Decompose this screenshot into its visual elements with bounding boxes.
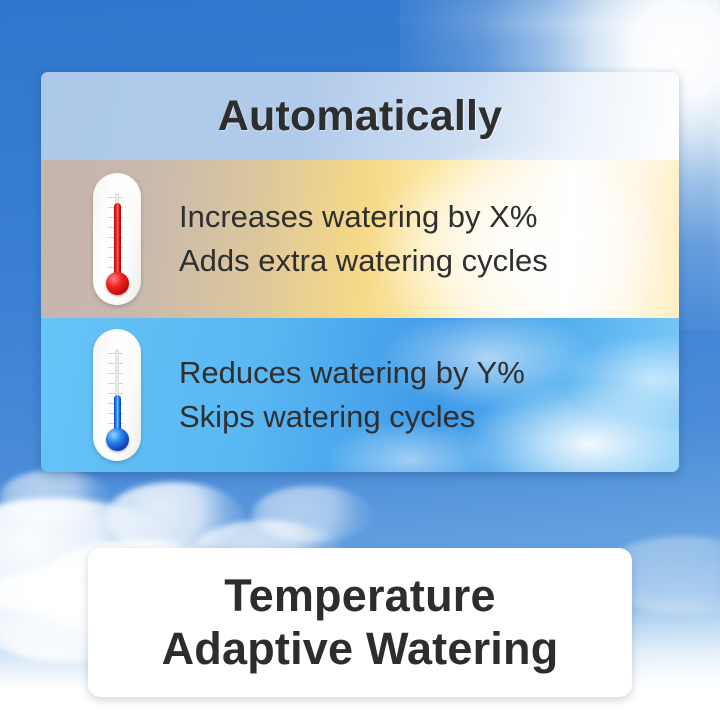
cold-line-1: Reduces watering by Y% <box>179 351 525 395</box>
thermometer-mercury-hot <box>114 203 121 279</box>
cloud-shape <box>252 486 372 542</box>
poster-canvas: Automatically Increases watering by X% A… <box>0 0 720 712</box>
page-title: Automatically <box>218 92 503 141</box>
hot-weather-text: Increases watering by X% Adds extra wate… <box>179 195 548 283</box>
cold-line-2: Skips watering cycles <box>179 395 525 439</box>
thermometer-bulb-cold <box>106 428 129 451</box>
thermometer-hot-icon <box>93 173 141 305</box>
hot-line-2: Adds extra watering cycles <box>179 239 548 283</box>
caption-card: Temperature Adaptive Watering <box>88 548 632 697</box>
feature-card: Automatically Increases watering by X% A… <box>41 72 679 472</box>
caption-line-2: Adaptive Watering <box>162 623 559 675</box>
thermometer-bulb-hot <box>106 272 129 295</box>
cloud-shape <box>0 470 110 522</box>
cold-weather-row: Reduces watering by Y% Skips watering cy… <box>41 318 679 472</box>
caption-line-1: Temperature <box>224 570 495 622</box>
feature-card-header: Automatically <box>41 72 679 160</box>
thermometer-cold-icon <box>93 329 141 461</box>
hot-weather-row: Increases watering by X% Adds extra wate… <box>41 160 679 318</box>
hot-line-1: Increases watering by X% <box>179 195 548 239</box>
cold-weather-text: Reduces watering by Y% Skips watering cy… <box>179 351 525 439</box>
